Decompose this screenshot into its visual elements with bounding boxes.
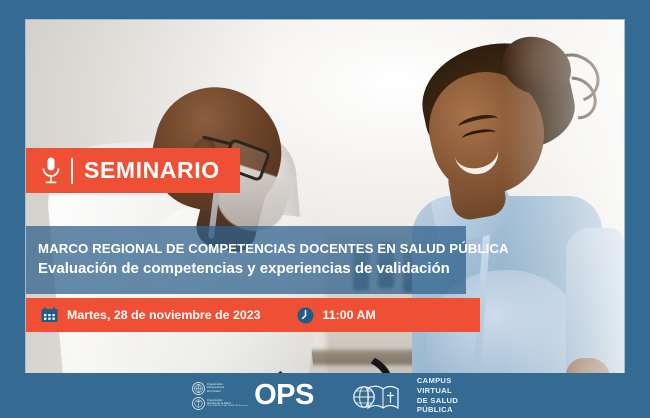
who-text-sub: OFICINA REGIONAL PARA LAS Américas — [207, 405, 248, 408]
who-emblem-text: Organización Mundial de la Salud OFICINA… — [205, 399, 248, 408]
cvsp-line-1: CAMPUS — [417, 376, 458, 386]
schedule-bar: Martes, 28 de noviembre de 2023 11:00 AM — [26, 298, 480, 332]
paho-text-3: de la Salud — [207, 390, 224, 393]
ops-logo: Organización Panamericana de la Salud Or… — [192, 381, 314, 410]
calendar-icon — [41, 307, 58, 323]
tag-divider — [71, 158, 73, 184]
who-seal-icon — [192, 397, 205, 410]
ops-wordmark: OPS — [254, 381, 314, 410]
paho-emblem-text: Organización Panamericana de la Salud — [205, 383, 224, 392]
microphone-icon — [40, 156, 62, 186]
title-line-1: MARCO REGIONAL DE COMPETENCIAS DOCENTES … — [38, 241, 466, 258]
cvsp-wordmark: CAMPUS VIRTUAL DE SALUD PÚBLICA — [417, 376, 458, 415]
seminar-time: 11:00 AM — [323, 308, 376, 322]
cvsp-line-4: PÚBLICA — [417, 405, 458, 415]
footer-logos: Organización Panamericana de la Salud Or… — [0, 373, 650, 418]
title-line-2: Evaluación de competencias y experiencia… — [38, 259, 466, 279]
cvsp-line-3: DE SALUD — [417, 396, 458, 406]
ops-emblem-group: Organización Panamericana de la Salud Or… — [192, 382, 248, 410]
cvsp-globe-book-icon — [352, 380, 410, 412]
seminar-date: Martes, 28 de noviembre de 2023 — [67, 308, 261, 322]
seminar-poster: SEMINARIO MARCO REGIONAL DE COMPETENCIAS… — [0, 0, 650, 418]
paho-emblem: Organización Panamericana de la Salud — [192, 382, 248, 395]
who-emblem: Organización Mundial de la Salud OFICINA… — [192, 397, 248, 410]
clock-icon — [297, 307, 314, 324]
paho-seal-icon — [192, 382, 205, 395]
date-item: Martes, 28 de noviembre de 2023 — [41, 307, 261, 323]
time-item: 11:00 AM — [297, 307, 376, 324]
seminario-label: SEMINARIO — [84, 159, 220, 182]
cvsp-logo: CAMPUS VIRTUAL DE SALUD PÚBLICA — [352, 376, 458, 415]
patient-arm — [566, 228, 624, 373]
seminario-tag: SEMINARIO — [26, 148, 240, 193]
title-band: MARCO REGIONAL DE COMPETENCIAS DOCENTES … — [26, 226, 466, 294]
cvsp-line-2: VIRTUAL — [417, 386, 458, 396]
